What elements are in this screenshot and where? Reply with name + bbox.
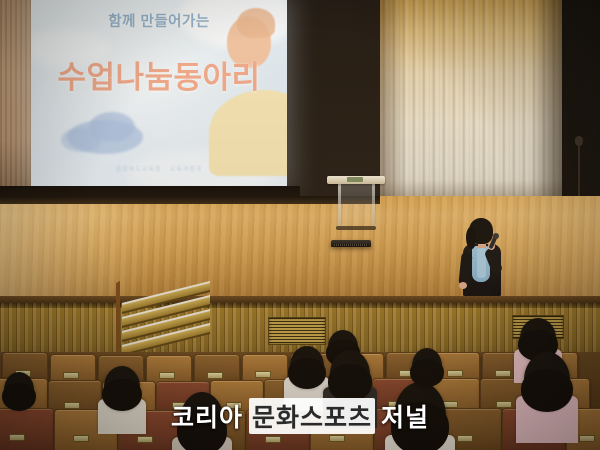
ceiling-speck	[580, 32, 581, 33]
lectern-nameplate	[347, 177, 363, 182]
ceiling-speck	[598, 30, 599, 31]
seat-number-plate	[495, 370, 511, 377]
ceiling-speck	[596, 113, 597, 114]
ceiling-speck	[567, 118, 568, 119]
ceiling-speck	[562, 58, 563, 59]
presenter-hand-left	[459, 282, 467, 289]
ceiling-speck	[573, 145, 574, 146]
stage-curtain-right	[380, 0, 562, 216]
curtain-left-pleats	[0, 0, 31, 186]
ceiling-speck	[588, 96, 589, 97]
ceiling-speck	[563, 35, 564, 36]
audience-member-hair	[410, 359, 444, 387]
ceiling-speck	[591, 93, 592, 94]
ceiling-speck	[568, 98, 569, 99]
watermark-text-before: 코리아	[171, 398, 243, 434]
handheld-microphone-head	[493, 233, 499, 239]
ceiling-speck	[572, 166, 573, 167]
ceiling-speck	[583, 66, 584, 67]
ceiling-speck	[586, 192, 587, 193]
ceiling-speck	[567, 26, 568, 27]
ceiling-speck	[564, 77, 565, 78]
ceiling-speck	[592, 49, 593, 50]
ceiling-speck	[595, 101, 596, 102]
ceiling-speck	[565, 72, 566, 73]
seat-number-plate	[447, 370, 463, 377]
watermark-text-highlight: 문화스포츠	[249, 398, 375, 434]
ceiling-speck	[592, 12, 593, 13]
ceiling-speck	[594, 186, 595, 187]
ceiling-speck	[572, 48, 573, 49]
ceiling-speck	[588, 184, 589, 185]
stage-curtain-left	[0, 0, 31, 186]
ceiling-speck	[582, 149, 583, 150]
ceiling-speck	[578, 118, 579, 119]
seat-number-plate	[63, 372, 79, 379]
ceiling-speck	[587, 68, 588, 69]
ceiling-speck	[585, 81, 586, 82]
ceiling-speck	[589, 143, 590, 144]
ceiling-speck	[573, 79, 574, 80]
ceiling-speck	[572, 109, 573, 110]
stair-handrail	[116, 281, 120, 353]
ceiling-speck	[586, 186, 587, 187]
ceiling-speck	[581, 155, 582, 156]
ceiling-speck	[594, 175, 595, 176]
lectern-base-shadow	[336, 226, 376, 230]
ceiling-speck	[591, 108, 592, 109]
ceiling-speck	[593, 166, 594, 167]
ceiling-speck	[587, 77, 588, 78]
ceiling-speck	[576, 16, 577, 17]
ceiling-speck	[570, 79, 571, 80]
ceiling-speck	[578, 65, 579, 66]
seat-number-plate	[265, 436, 281, 443]
ceiling-speck	[587, 64, 588, 65]
ceiling-speck	[573, 142, 574, 143]
ceiling-speck	[589, 23, 590, 24]
ceiling-speck	[575, 61, 576, 62]
seat-number-plate	[457, 435, 473, 442]
ceiling-speck	[566, 5, 567, 6]
ceiling-speck	[592, 181, 593, 182]
lectern-leg-left	[338, 184, 341, 228]
ceiling-speck	[569, 178, 570, 179]
seat-number-plate	[207, 372, 223, 379]
stage-back-shadow	[0, 196, 380, 204]
ceiling-speck	[596, 132, 597, 133]
watermark-text-after: 저널	[381, 398, 429, 434]
ceiling-speck	[597, 193, 598, 194]
microphone-stand-icon	[578, 140, 580, 202]
ceiling-speck	[596, 108, 597, 109]
watermark: 코리아 문화스포츠 저널	[0, 398, 600, 434]
ceiling-speck	[591, 54, 592, 55]
ceiling-speck	[577, 9, 578, 10]
ceiling-speck	[581, 39, 582, 40]
presenter-hair-side	[466, 227, 476, 249]
dark-stage-wing	[560, 0, 600, 215]
ceiling-speck	[579, 122, 580, 123]
ceiling-speck	[592, 57, 593, 58]
seat-number-plate	[255, 371, 271, 378]
seat-number-plate	[137, 436, 153, 443]
ceiling-speck	[592, 172, 593, 173]
seat-number-plate	[329, 435, 345, 442]
ceiling-speck	[571, 16, 572, 17]
ceiling-speck	[574, 111, 575, 112]
ceiling-speck	[593, 99, 594, 100]
ceiling-speck	[562, 136, 563, 137]
floor-monitor-grille	[334, 244, 368, 246]
lectern-leg-right	[372, 184, 375, 228]
ceiling-speck	[578, 111, 579, 112]
ceiling-speck	[584, 87, 585, 88]
ventilation-grille-center	[268, 317, 326, 345]
slide-subtitle: 충청북도교육청 · 교육과정과	[31, 164, 287, 173]
ceiling-speck	[562, 64, 563, 65]
ceiling-speck	[598, 11, 599, 12]
slide-main-title: 수업나눔동아리	[31, 52, 287, 97]
lectern-glass-panel	[341, 184, 372, 228]
seat-number-plate	[579, 435, 595, 442]
auditorium-photo: 함께 만들어가는 수업나눔동아리 충청북도교육청 · 교육과정과	[0, 0, 600, 450]
slide-top-line: 함께 만들어가는	[31, 10, 287, 31]
ceiling-speck	[599, 136, 600, 137]
audience-member-hair	[288, 358, 326, 389]
slide-cloud-blue-b	[89, 112, 135, 142]
seat-number-plate	[9, 434, 25, 441]
ceiling-speck	[587, 81, 588, 82]
ceiling-speck	[575, 73, 576, 74]
seat-number-plate	[73, 435, 89, 442]
ceiling-speck	[574, 21, 575, 22]
ceiling-speck	[569, 102, 570, 103]
ceiling-speck	[566, 164, 567, 165]
audience-member-hair	[328, 364, 373, 401]
ceiling-speck	[598, 35, 599, 36]
seat-number-plate	[159, 372, 175, 379]
ceiling-speck	[583, 137, 584, 138]
projection-screen: 함께 만들어가는 수업나눔동아리 충청북도교육청 · 교육과정과	[31, 0, 287, 186]
ceiling-speck	[595, 120, 596, 121]
ceiling-speck	[581, 11, 582, 12]
ceiling-speck	[576, 106, 577, 107]
ceiling-speck	[596, 76, 597, 77]
